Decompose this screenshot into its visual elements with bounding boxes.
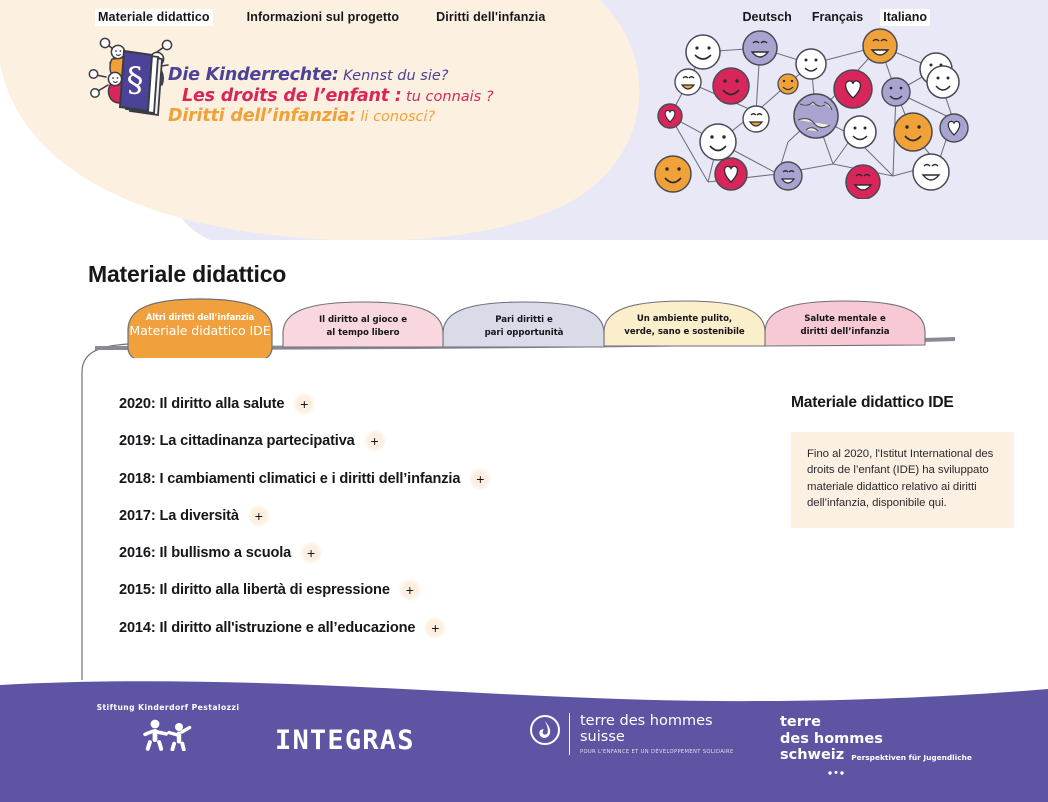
main-menu: Materiale didattico Informazioni sul pro… [95,9,548,26]
nav-item-materiale-didattico[interactable]: Materiale didattico [95,9,213,26]
lang-option-italiano[interactable]: Italiano [880,9,930,26]
tab-materiale-didattico-ide[interactable] [128,299,272,351]
list-item-title: 2017: La diversità [119,508,239,524]
logo-line-1-light: Kennst du sie? [343,68,448,84]
top-navigation-bar: Materiale didattico Informazioni sul pro… [0,0,1048,34]
list-item[interactable]: 2018: I cambiamenti climatici e i diritt… [119,467,491,491]
list-item-title: 2018: I cambiamenti climatici e i diritt… [119,471,460,487]
tdh-schweiz-line-1: terre [780,715,972,730]
stiftung-kinderdorf-pestalozzi-logo[interactable]: Stiftung Kinderdorf Pestalozzi [88,703,248,756]
integras-logo[interactable]: INTEGRAS [275,725,415,756]
category-tab-strip: Altri diritti dell’infanzia Materiale di… [0,296,1048,358]
logo-line-2-light: tu connais ? [406,89,493,105]
tab-diritto-al-gioco[interactable] [283,302,443,347]
tdh-schweiz-tagline: Perspektiven für Jugendliche [851,753,972,763]
integras-wordmark: INTEGRAS [275,725,415,756]
sidebar-info-box: Fino al 2020, l'Istitut International de… [791,432,1014,528]
expand-icon[interactable]: + [469,468,491,490]
expand-icon[interactable]: + [293,393,315,415]
tab-pari-diritti[interactable] [443,302,604,347]
logo-line-3-bold: Diritti dell’infanzia: [168,106,356,126]
list-item[interactable]: 2014: Il diritto all'istruzione e all’ed… [119,616,446,640]
pestalozzi-wordmark: Stiftung Kinderdorf Pestalozzi [88,703,248,712]
page-title: Materiale didattico [88,261,286,288]
lang-option-deutsch[interactable]: Deutsch [739,9,794,26]
list-item[interactable]: 2015: Il diritto alla libertà di espress… [119,578,421,602]
tab-ambiente-pulito[interactable] [604,301,765,346]
list-item-title: 2014: Il diritto all'istruzione e all’ed… [119,620,415,636]
site-footer: Stiftung Kinderdorf Pestalozzi [0,667,1048,802]
list-item[interactable]: 2016: Il bullismo a scuola + [119,541,322,565]
language-switcher: Deutsch Français Italiano [739,9,930,26]
sidebar-info-panel: Materiale didattico IDE Fino al 2020, l'… [791,394,1017,528]
smiley-network-globe-illustration [648,24,978,199]
svg-text:§: § [127,60,144,100]
tdh-suisse-drop-icon [530,715,560,745]
nav-item-diritti-dell-infanzia[interactable]: Diritti dell'infanzia [433,9,548,26]
list-item-title: 2020: Il diritto alla salute [119,396,284,412]
tab-salute-mentale[interactable] [765,301,925,346]
terre-des-hommes-suisse-logo[interactable]: terre des hommes suisse POUR L'ENFANCE E… [530,713,734,755]
logo-line-3-light: li conosci? [360,109,435,125]
expand-icon[interactable]: + [399,579,421,601]
logo-line-2-bold: Les droits de l’enfant : [182,86,402,106]
tdh-suisse-tagline: POUR L'ENFANCE ET UN DÉVELOPPEMENT SOLID… [580,749,734,755]
expand-icon[interactable]: + [248,505,270,527]
list-item-title: 2019: La cittadinanza partecipativa [119,433,355,449]
expand-icon[interactable]: + [300,542,322,564]
lang-option-francais[interactable]: Français [809,9,866,26]
tdh-suisse-line-2: suisse [580,729,734,745]
teaching-material-list: 2020: Il diritto alla salute + 2019: La … [119,392,739,653]
site-logo[interactable]: § Die Kinderrechte: Kennst du sie? Les d… [88,33,438,138]
tdh-schweiz-line-2: des hommes [780,732,972,747]
tdh-suisse-line-1: terre des hommes [580,713,734,729]
expand-icon[interactable]: + [364,430,386,452]
list-item[interactable]: 2019: La cittadinanza partecipativa + [119,429,386,453]
pestalozzi-children-icon [141,717,195,751]
logo-line-1-bold: Die Kinderrechte: [168,65,339,85]
list-item[interactable]: 2020: Il diritto alla salute + [119,392,315,416]
tdh-schweiz-dots-icon [826,770,848,776]
nav-item-informazioni-sul-progetto[interactable]: Informazioni sul progetto [244,9,403,26]
expand-icon[interactable]: + [424,617,446,639]
logo-tagline: Die Kinderrechte: Kennst du sie? Les dro… [168,67,494,126]
terre-des-hommes-schweiz-logo[interactable]: terre des hommes schweiz Perspektiven fü… [780,715,972,781]
tdh-schweiz-line-3: schweiz [780,748,844,763]
list-item-title: 2016: Il bullismo a scuola [119,545,291,561]
sidebar-title: Materiale didattico IDE [791,394,1017,412]
list-item-title: 2015: Il diritto alla libertà di espress… [119,582,390,598]
sidebar-info-text: Fino al 2020, l'Istitut International de… [807,446,998,512]
list-item[interactable]: 2017: La diversità + [119,504,270,528]
